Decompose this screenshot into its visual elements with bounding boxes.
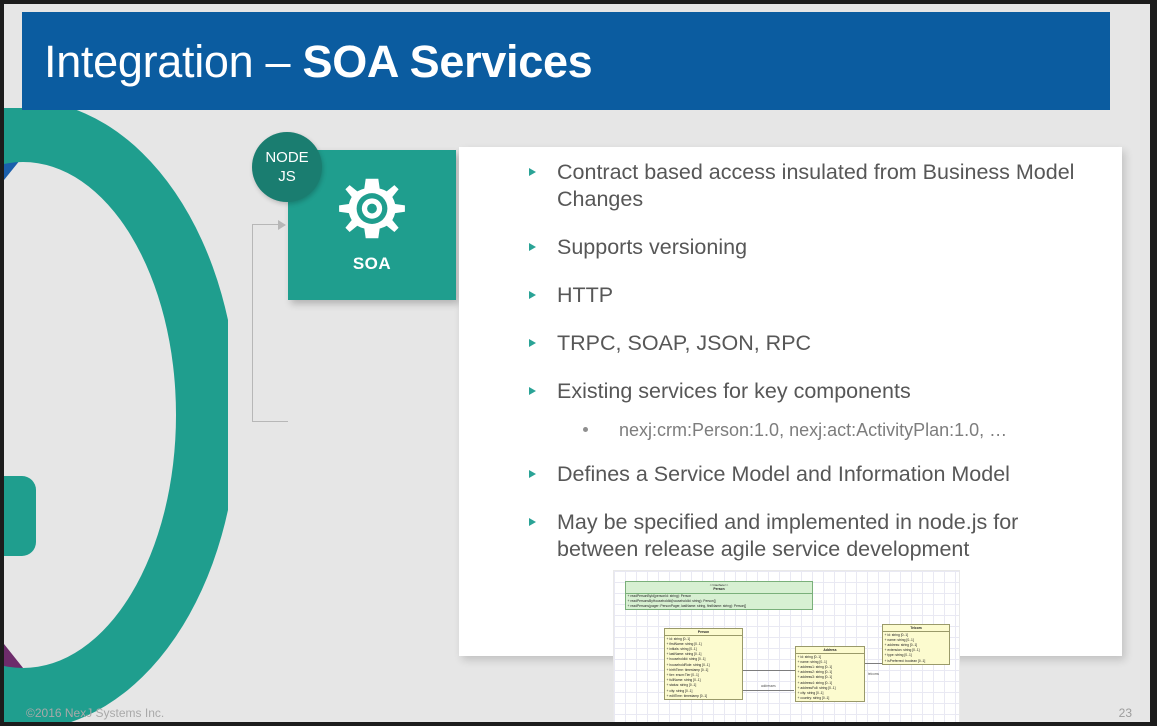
bullet-triangle-icon	[529, 470, 536, 478]
uml-attribute: + isPreferred: boolean [0..1]	[883, 658, 949, 663]
slide: Integration Integration – SOA Services S…	[0, 0, 1157, 726]
bullet-text: HTTP	[557, 283, 613, 307]
uml-association-label: telcoms	[868, 672, 879, 676]
uml-class-name: Address	[796, 647, 864, 654]
bullet-triangle-icon	[529, 387, 536, 395]
title-light-part: Integration –	[44, 36, 302, 87]
arrow-right-icon	[278, 220, 286, 230]
uml-class-person: Person + id: string [0..1] + firstName: …	[664, 628, 743, 700]
integration-arc: Integration	[4, 108, 228, 722]
bullet-text: May be specified and implemented in node…	[557, 510, 1018, 561]
soa-tile-label: SOA	[288, 254, 456, 274]
bullet-item: HTTP	[491, 282, 1091, 309]
bullet-text: Defines a Service Model and Information …	[557, 462, 1010, 486]
bullet-text: Supports versioning	[557, 235, 747, 259]
connector-vertical-line	[252, 224, 253, 422]
uml-diagram-image: <<interface>> Person + readPersonById(pe…	[614, 571, 959, 722]
bullet-triangle-icon	[529, 168, 536, 176]
sub-bullet-item: nexj:crm:Person:1.0, nexj:act:ActivityPl…	[491, 418, 1091, 442]
uml-attribute: + editTime: timestamp [0..1]	[665, 693, 742, 698]
bullet-text: Existing services for key components	[557, 379, 911, 403]
slide-canvas: Integration Integration – SOA Services S…	[4, 4, 1150, 722]
uml-attribute: + country: string [0..1]	[796, 696, 864, 701]
title-bar: Integration – SOA Services	[22, 12, 1110, 110]
bullet-item: Contract based access insulated from Bus…	[491, 159, 1091, 213]
bullet-text: Contract based access insulated from Bus…	[557, 160, 1074, 211]
bullet-triangle-icon	[529, 243, 536, 251]
gear-icon	[337, 176, 407, 246]
uml-association-line	[736, 690, 794, 691]
arc-tab	[4, 476, 36, 556]
arc-ring	[4, 108, 228, 722]
uml-class-name: Person	[665, 629, 742, 636]
uml-association-label: addresses	[761, 684, 776, 688]
bullet-item: Supports versioning	[491, 234, 1091, 261]
connector-top-line	[252, 224, 280, 225]
uml-class-address: Address + id: string [0..1] + name: stri…	[795, 646, 865, 702]
uml-interface-name: Person	[626, 587, 812, 591]
bullet-triangle-icon	[529, 518, 536, 526]
uml-method: + readPersons(pager: PersonPager, lastNa…	[626, 604, 812, 609]
sub-bullet-text: nexj:crm:Person:1.0, nexj:act:ActivityPl…	[619, 420, 1007, 440]
node-js-badge[interactable]: NODE JS	[252, 132, 322, 202]
bullet-dot-icon	[583, 427, 588, 432]
page-title: Integration – SOA Services	[44, 34, 592, 89]
uml-class-name: Telcom	[883, 625, 949, 632]
uml-class-telcom: Telcom + id: string [0..1] + name: strin…	[882, 624, 950, 665]
connector	[252, 222, 288, 422]
bullet-item: Existing services for key components	[491, 378, 1091, 405]
bullet-text: TRPC, SOAP, JSON, RPC	[557, 331, 811, 355]
bullet-item: Defines a Service Model and Information …	[491, 461, 1091, 488]
uml-interface-header: <<interface>> Person	[626, 582, 812, 594]
bullet-list: Contract based access insulated from Bus…	[491, 159, 1091, 584]
page-number: 23	[1119, 706, 1132, 720]
node-js-badge-line1: NODE	[265, 148, 308, 167]
bullet-triangle-icon	[529, 339, 536, 347]
bullet-triangle-icon	[529, 291, 536, 299]
bullet-item: TRPC, SOAP, JSON, RPC	[491, 330, 1091, 357]
title-bold-part: SOA Services	[302, 36, 592, 87]
bullet-item: May be specified and implemented in node…	[491, 509, 1091, 563]
node-js-badge-line2: JS	[278, 167, 296, 186]
connector-bottom-line	[252, 421, 288, 422]
copyright-text: ©2016 NexJ Systems Inc.	[26, 706, 164, 720]
uml-interface-person: <<interface>> Person + readPersonById(pe…	[625, 581, 813, 610]
